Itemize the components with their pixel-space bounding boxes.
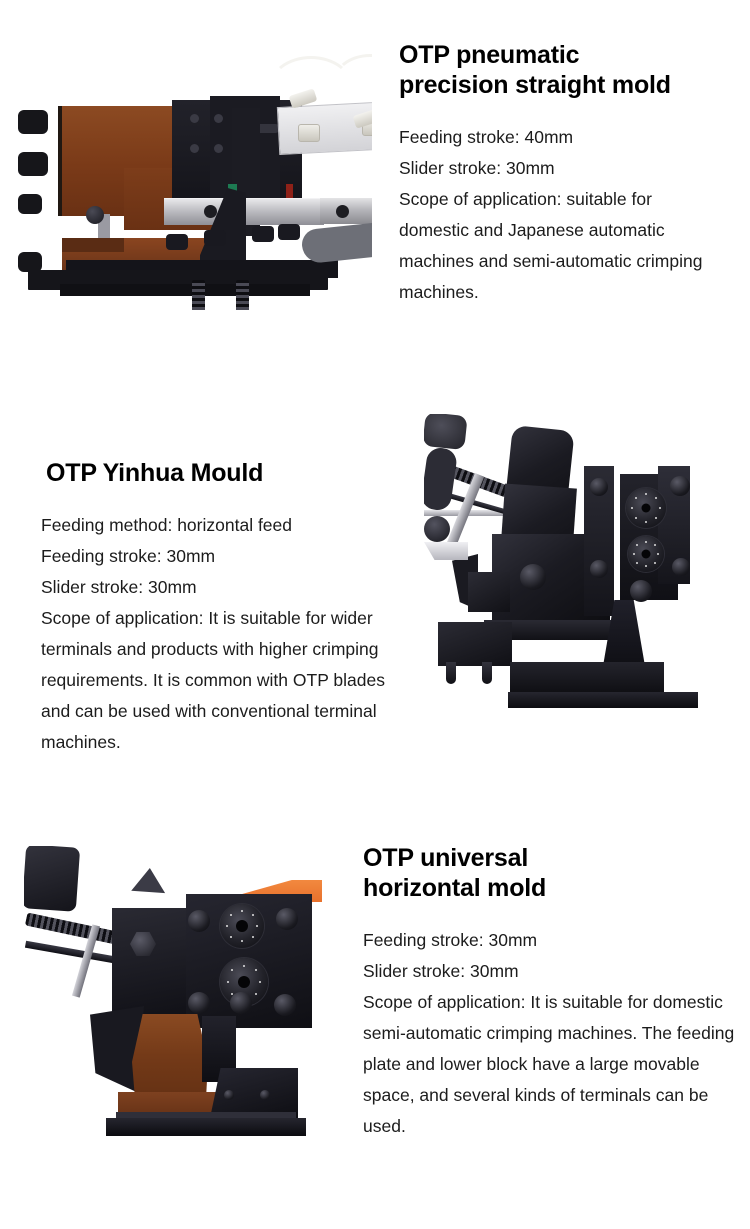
- dial-bore: [642, 504, 651, 513]
- base-hole: [260, 1090, 270, 1100]
- adjustment-dial-upper[interactable]: [220, 904, 264, 948]
- dial-mark: [255, 969, 257, 971]
- base-plate-lower: [60, 284, 310, 296]
- dial-mark: [635, 517, 637, 519]
- dial-mark: [252, 914, 254, 916]
- spec-line: Slider stroke: 30mm: [399, 153, 735, 184]
- body-hole: [190, 144, 199, 153]
- hex-bolt: [274, 994, 296, 1016]
- dial-mark: [243, 965, 245, 967]
- ram-head-facet: [131, 867, 167, 893]
- dial-mark: [231, 969, 233, 971]
- clamp-knob: [278, 224, 300, 240]
- hex-bolt: [188, 992, 210, 1014]
- dial-mark: [226, 925, 228, 927]
- product-image-otp-yinhua: [424, 414, 744, 734]
- dial-bore: [642, 550, 651, 559]
- pneumatic-fitting: [298, 124, 320, 142]
- adjustment-dial-upper[interactable]: [626, 488, 666, 528]
- section-heading: OTP pneumatic precision straight mold: [399, 40, 735, 100]
- dial-mark: [230, 914, 232, 916]
- dial-mark: [241, 910, 243, 912]
- hex-bolt: [276, 908, 298, 930]
- dial-mark: [659, 507, 661, 509]
- dial-bore: [238, 976, 250, 988]
- clamp-block: [438, 622, 512, 666]
- bolt-cap: [86, 206, 104, 224]
- dial-mark: [657, 553, 659, 555]
- dial-mark: [655, 517, 657, 519]
- section-heading: OTP universal horizontal mold: [363, 843, 735, 903]
- clamp-knob: [252, 226, 274, 242]
- hex-bolt: [630, 580, 652, 602]
- copper-base-step: [62, 238, 124, 252]
- ram-cap: [424, 414, 468, 450]
- rail-hole: [204, 205, 217, 218]
- adjust-knob: [18, 152, 48, 176]
- base-plate: [106, 1118, 306, 1136]
- adjust-knob: [18, 252, 42, 272]
- adjust-knob: [18, 194, 42, 214]
- dial-mark: [655, 497, 657, 499]
- release-lever: [300, 222, 372, 265]
- hex-bolt: [590, 560, 608, 578]
- hex-bolt: [230, 992, 252, 1014]
- dial-mark: [230, 936, 232, 938]
- clamp-pin: [446, 662, 456, 684]
- ram-neck: [112, 908, 190, 1018]
- section-otp-pneumatic-text: OTP pneumatic precision straight mold Fe…: [399, 40, 735, 308]
- scope-text: Scope of application: It is suitable for…: [41, 603, 413, 758]
- ram-head: [24, 846, 80, 912]
- clamp-knob: [166, 234, 188, 250]
- dial-mark: [259, 981, 261, 983]
- small-block: [468, 572, 510, 612]
- spec-line: Feeding stroke: 30mm: [363, 925, 735, 956]
- adjustment-dial-lower[interactable]: [628, 536, 664, 572]
- dial-bore: [236, 920, 248, 932]
- dial-mark: [255, 993, 257, 995]
- hex-bolt: [188, 910, 210, 932]
- dial-mark: [633, 553, 635, 555]
- dial-mark: [635, 497, 637, 499]
- product-image-otp-universal: [24, 846, 334, 1164]
- spec-line: Feeding stroke: 40mm: [399, 122, 735, 153]
- section-otp-universal-text: OTP universal horizontal mold Feeding st…: [363, 843, 735, 1142]
- base-wedge: [424, 542, 468, 560]
- hex-bolt: [520, 564, 546, 590]
- foot-block: [510, 662, 664, 696]
- product-image-otp-pneumatic: [14, 48, 372, 310]
- dial-mark: [654, 562, 656, 564]
- clamp-knob: [204, 230, 226, 246]
- product-spec-sheet: OTP pneumatic precision straight mold Fe…: [0, 0, 750, 1229]
- hex-bolt: [672, 558, 690, 576]
- coil-spring: [192, 280, 205, 310]
- rail-hole: [336, 205, 349, 218]
- coil-spring: [236, 280, 249, 310]
- hex-bolt: [590, 478, 608, 496]
- dial-mark: [636, 562, 638, 564]
- scope-text: Scope of application: It is suitable for…: [363, 987, 735, 1142]
- dial-mark: [636, 544, 638, 546]
- dial-mark: [645, 493, 647, 495]
- dial-mark: [631, 507, 633, 509]
- dial-mark: [241, 940, 243, 942]
- dial-mark: [645, 521, 647, 523]
- clamp-pin: [482, 662, 492, 684]
- dial-mark: [654, 544, 656, 546]
- dial-mark: [256, 925, 258, 927]
- hex-bolt: [670, 476, 690, 496]
- adjust-knob: [18, 110, 48, 134]
- ram-inner-cutout: [424, 446, 458, 512]
- dial-mark: [645, 541, 647, 543]
- dial-mark: [645, 565, 647, 567]
- link-rod: [25, 941, 125, 965]
- base-plate: [508, 692, 698, 708]
- scope-text: Scope of application: suitable for domes…: [399, 184, 704, 308]
- dial-mark: [227, 981, 229, 983]
- base-hole: [224, 1090, 234, 1100]
- body-hole: [214, 114, 223, 123]
- dial-mark: [252, 936, 254, 938]
- body-hole: [190, 114, 199, 123]
- clamp-knob: [424, 516, 450, 542]
- body-hole: [214, 144, 223, 153]
- spec-line: Slider stroke: 30mm: [363, 956, 735, 987]
